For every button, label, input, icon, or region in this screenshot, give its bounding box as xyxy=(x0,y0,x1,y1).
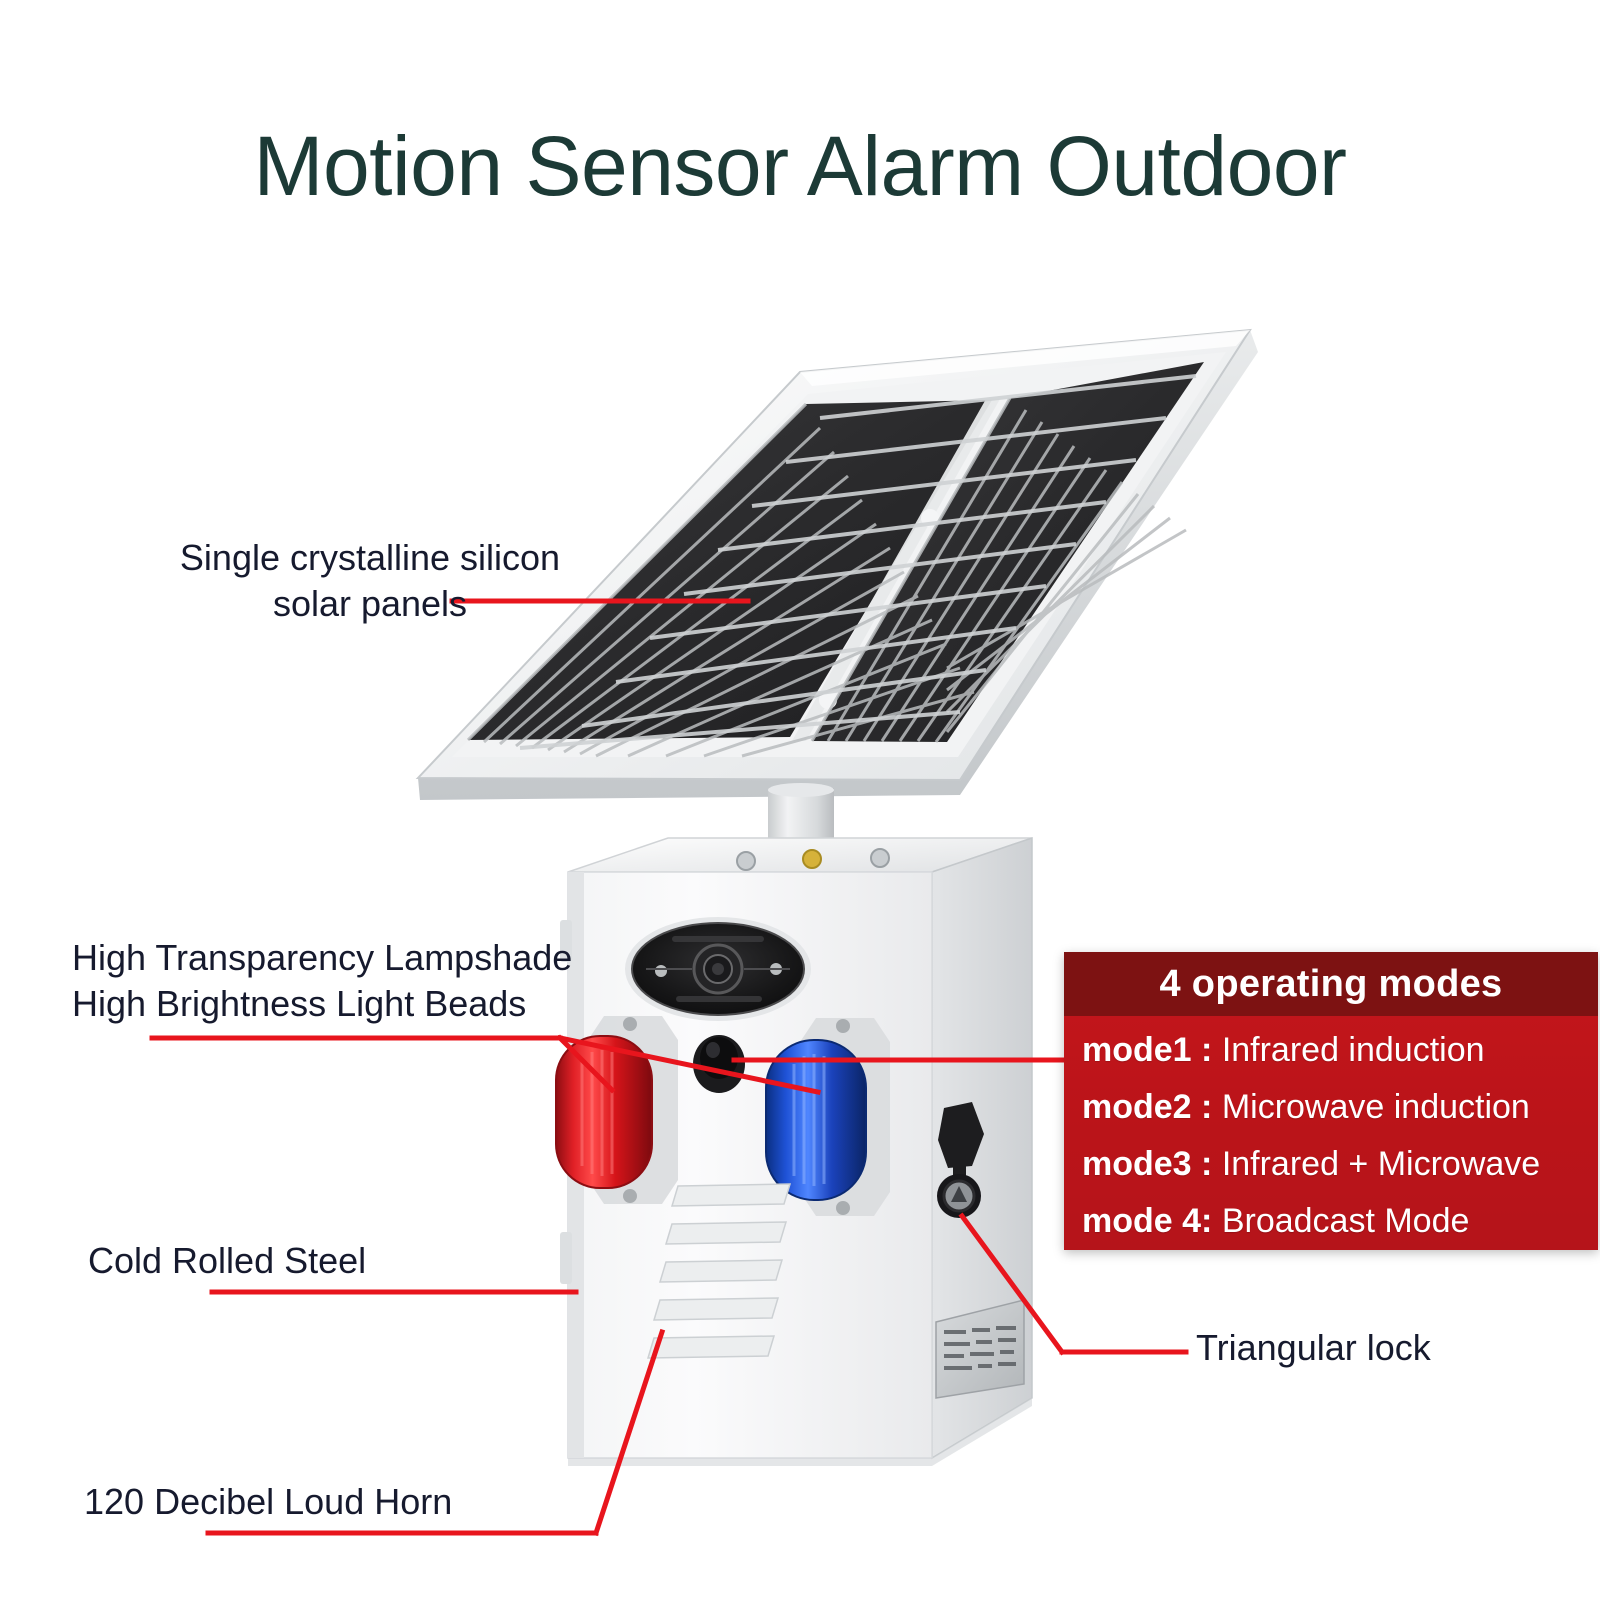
callout-lampshade-line2: High Brightness Light Beads xyxy=(72,981,572,1027)
mode-row-2: mode2 : Microwave induction xyxy=(1082,1079,1598,1136)
mode-row-4: mode 4: Broadcast Mode xyxy=(1082,1193,1598,1250)
hinge xyxy=(560,1232,572,1284)
red-lens xyxy=(556,1036,652,1188)
mode-3-key: mode3 : xyxy=(1082,1145,1212,1183)
mode-1-key: mode1 : xyxy=(1082,1031,1212,1069)
mode-3-value: Infrared + Microwave xyxy=(1222,1145,1540,1183)
callout-lampshade: High Transparency Lampshade High Brightn… xyxy=(72,935,572,1027)
sensor-module xyxy=(625,917,811,1021)
mode-1-value: Infrared induction xyxy=(1222,1031,1485,1069)
mode-row-3: mode3 : Infrared + Microwave xyxy=(1082,1136,1598,1193)
infographic-stage: Motion Sensor Alarm Outdoor xyxy=(0,0,1600,1600)
callout-solar-panel: Single crystalline silicon solar panels xyxy=(150,535,590,627)
operating-modes-list: mode1 : Infrared induction mode2 : Micro… xyxy=(1064,1016,1598,1250)
mode-2-value: Microwave induction xyxy=(1222,1088,1530,1126)
callout-lampshade-line1: High Transparency Lampshade xyxy=(72,935,572,981)
mode-4-key: mode 4: xyxy=(1082,1202,1212,1240)
module-screw xyxy=(655,965,667,977)
mode-row-1: mode1 : Infrared induction xyxy=(1082,1022,1598,1079)
mode-2-key: mode2 : xyxy=(1082,1088,1212,1126)
operating-modes-panel: 4 operating modes mode1 : Infrared induc… xyxy=(1064,952,1598,1250)
callout-loud-horn: 120 Decibel Loud Horn xyxy=(84,1479,452,1525)
callout-triangular-lock: Triangular lock xyxy=(1196,1325,1431,1371)
enclosure xyxy=(556,838,1032,1466)
red-strobe-light xyxy=(556,1016,678,1204)
callout-solar-panel-line2: solar panels xyxy=(150,581,590,627)
operating-modes-header: 4 operating modes xyxy=(1064,952,1598,1016)
blue-lens xyxy=(766,1040,866,1200)
callout-solar-panel-line1: Single crystalline silicon xyxy=(150,535,590,581)
callout-cold-rolled-steel: Cold Rolled Steel xyxy=(88,1238,366,1284)
mode-4-value: Broadcast Mode xyxy=(1222,1202,1470,1240)
pir-dome-sensor xyxy=(693,1035,745,1093)
